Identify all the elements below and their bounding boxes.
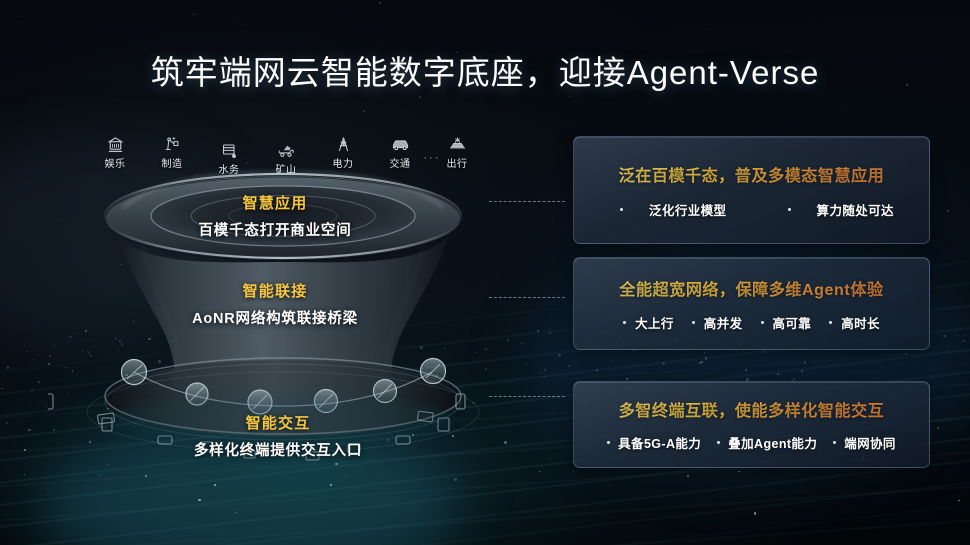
stage-subtitle: 多样化终端提供交互入口 [128, 439, 428, 460]
bullet-item: 算力随处可达 [777, 200, 894, 219]
slide-canvas: 筑牢端网云智能数字底座，迎接Agent-Verse 娱乐 [0, 0, 970, 545]
bullet-dot-icon [607, 441, 610, 444]
stage-title: 智能交互 [128, 412, 428, 433]
bullet-label: 算力随处可达 [817, 200, 894, 219]
panel-bullet-list: 大上行 高并发 高可靠 高时长 [614, 313, 889, 332]
bullet-label: 大上行 [635, 313, 674, 332]
page-title: 筑牢端网云智能数字底座，迎接Agent-Verse [0, 46, 970, 94]
bullet-dot-icon [620, 208, 623, 211]
connector-line-interaction [489, 396, 565, 397]
bullet-label: 高并发 [704, 313, 743, 332]
panel-title: 泛在百模千态，普及多模态智慧应用 [619, 162, 885, 186]
bullet-item: 具备5G-A能力 [599, 433, 709, 452]
bullet-item: 叠加Agent能力 [709, 433, 825, 452]
bullet-item: 泛化行业模型 [609, 200, 726, 219]
panel-bullet-list: 泛化行业模型 算力随处可达 [574, 200, 929, 219]
bullet-dot-icon [761, 321, 764, 324]
bullet-dot-icon [623, 321, 626, 324]
stage-block-connectivity: 智能联接 AoNR网络构筑联接桥梁 [135, 280, 415, 328]
stage-title: 智慧应用 [135, 192, 415, 213]
panel-intelligent-applications[interactable]: 泛在百模千态，普及多模态智慧应用 泛化行业模型 算力随处可达 [573, 136, 930, 244]
stage-subtitle: AoNR网络构筑联接桥梁 [135, 307, 415, 328]
connector-line-applications [489, 201, 565, 202]
bullet-item: 大上行 [614, 313, 683, 332]
bullet-label: 高时长 [841, 313, 880, 332]
bullet-item: 高时长 [820, 313, 889, 332]
bullet-dot-icon [833, 441, 836, 444]
bullet-item: 端网协同 [825, 433, 904, 452]
panel-intelligent-connectivity[interactable]: 全能超宽网络，保障多维Agent体验 大上行 高并发 高可靠 高时长 [573, 257, 930, 350]
stage-title: 智能联接 [135, 280, 415, 301]
stage-block-interaction: 智能交互 多样化终端提供交互入口 [128, 412, 428, 460]
bullet-dot-icon [692, 321, 695, 324]
bullet-label: 端网协同 [844, 433, 896, 452]
bullet-dot-icon [717, 441, 720, 444]
bullet-label: 高可靠 [773, 313, 812, 332]
connector-line-connectivity [489, 297, 565, 298]
panel-title: 多智终端互联，使能多样化智能交互 [619, 397, 885, 421]
bullet-label: 泛化行业模型 [649, 200, 726, 219]
bullet-item: 高并发 [683, 313, 752, 332]
bullet-label: 具备5G-A能力 [618, 433, 701, 452]
bullet-label: 叠加Agent能力 [728, 433, 817, 452]
stage-block-applications: 智慧应用 百模千态打开商业空间 [135, 192, 415, 240]
panel-bullet-list: 具备5G-A能力 叠加Agent能力 端网协同 [599, 433, 904, 452]
panel-title: 全能超宽网络，保障多维Agent体验 [619, 276, 883, 300]
bullet-dot-icon [829, 321, 832, 324]
bullet-dot-icon [788, 208, 791, 211]
panel-intelligent-interaction[interactable]: 多智终端互联，使能多样化智能交互 具备5G-A能力 叠加Agent能力 端网协同 [573, 381, 930, 468]
stage-subtitle: 百模千态打开商业空间 [135, 219, 415, 240]
bullet-item: 高可靠 [752, 313, 821, 332]
